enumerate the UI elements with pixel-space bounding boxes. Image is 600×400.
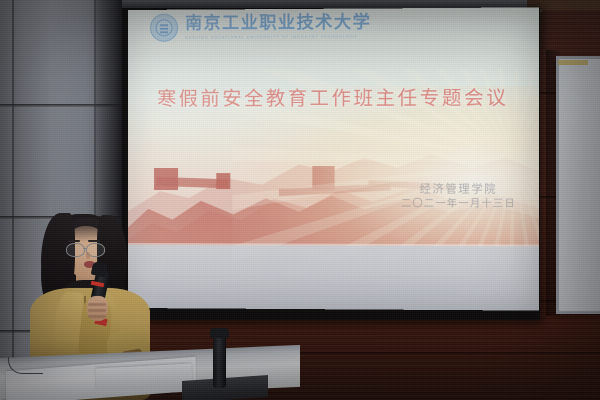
slide-footer-band — [128, 245, 539, 310]
whiteboard — [556, 56, 600, 314]
presentation-slide: 南京工业职业技术大学 NANJING VOCATIONAL UNIVERSITY… — [128, 7, 539, 310]
slide-brand-lockup: 南京工业职业技术大学 NANJING VOCATIONAL UNIVERSITY… — [150, 12, 371, 41]
university-name-cn: 南京工业职业技术大学 — [185, 15, 371, 33]
great-wall-tower — [154, 168, 178, 190]
slide-signature-block: 经济管理学院 二〇二一年一月十三日 — [401, 182, 516, 211]
podium-mic-stand-head — [210, 328, 229, 338]
great-wall-segment — [279, 183, 391, 196]
presenter-eyebrow-right — [88, 240, 100, 242]
eyeglasses-bridge — [83, 248, 87, 249]
presenter-eyebrow-left — [68, 240, 80, 242]
slide-date: 二〇二一年一月十三日 — [401, 197, 516, 211]
presenter-finger — [88, 309, 106, 312]
university-seal-icon — [150, 14, 178, 42]
great-wall-tower — [312, 166, 334, 190]
presentation-photo-scene: 南京工业职业技术大学 NANJING VOCATIONAL UNIVERSITY… — [0, 0, 600, 400]
presenter-nose — [86, 252, 90, 259]
slide-title: 寒假前安全教育工作班主任专题会议 — [128, 83, 539, 111]
eyeglasses-icon — [66, 243, 85, 257]
audio-cable — [8, 357, 43, 374]
presenter-finger — [88, 303, 106, 306]
projection-screen: 南京工业职业技术大学 NANJING VOCATIONAL UNIVERSITY… — [128, 7, 539, 310]
slide-department: 经济管理学院 — [401, 182, 516, 197]
wall-panel-joint — [12, 0, 14, 400]
great-wall-tower — [216, 173, 230, 189]
podium-mic-stand — [213, 332, 226, 388]
whiteboard-marker-tray — [558, 60, 588, 65]
university-name-en: NANJING VOCATIONAL UNIVERSITY OF INDUSTR… — [185, 35, 371, 40]
presenter-finger — [88, 315, 106, 318]
great-wall-segment — [156, 177, 229, 189]
